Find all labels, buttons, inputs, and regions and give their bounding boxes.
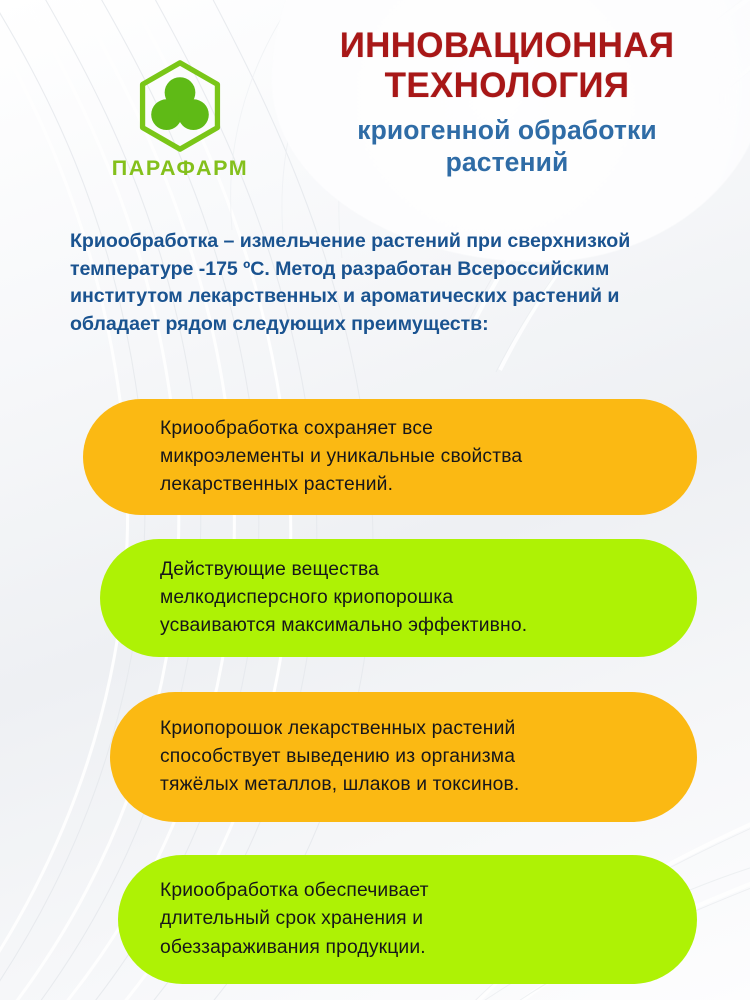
hexagon-clover-icon (132, 58, 228, 154)
infographic-page: ПАРАФАРМ ИННОВАЦИОННАЯ ТЕХНОЛОГИЯ криоге… (0, 0, 750, 1000)
brand-logo: ПАРАФАРМ (84, 58, 276, 181)
benefit-card-3-text: Криопорошок лекарственных растений спосо… (110, 715, 519, 800)
title-line-2: ТЕХНОЛОГИЯ (272, 66, 742, 106)
subtitle-line-1: криогенной обработки (272, 114, 742, 146)
page-title: ИННОВАЦИОННАЯ ТЕХНОЛОГИЯ (272, 26, 742, 105)
intro-paragraph: Криообработка – измельчение растений при… (70, 228, 678, 339)
subtitle-line-2: растений (272, 146, 742, 178)
benefit-card-1-text: Криообработка сохраняет все микроэлемент… (83, 415, 522, 500)
page-subtitle: криогенной обработки растений (272, 114, 742, 179)
benefit-card-4: Криообработка обеспечивает длительный ср… (118, 855, 697, 984)
title-line-1: ИННОВАЦИОННАЯ (272, 26, 742, 66)
benefit-card-2: Действующие вещества мелкодисперсного кр… (100, 539, 697, 657)
brand-wordmark: ПАРАФАРМ (84, 156, 276, 181)
benefit-card-3: Криопорошок лекарственных растений спосо… (110, 692, 697, 822)
benefit-card-4-text: Криообработка обеспечивает длительный ср… (118, 877, 429, 962)
benefit-card-1: Криообработка сохраняет все микроэлемент… (83, 399, 697, 515)
headline-block: ИННОВАЦИОННАЯ ТЕХНОЛОГИЯ криогенной обра… (272, 26, 742, 179)
benefit-card-2-text: Действующие вещества мелкодисперсного кр… (100, 556, 527, 641)
